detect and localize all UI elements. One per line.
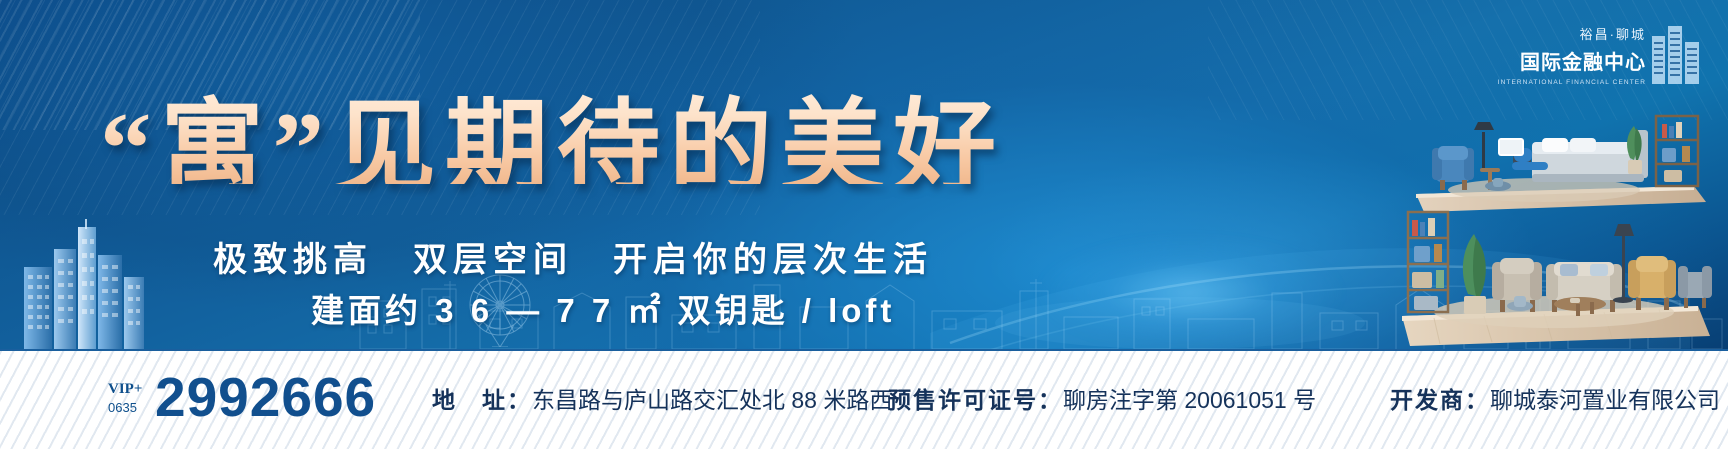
- developer-value: 聊城泰河置业有限公司: [1490, 387, 1720, 413]
- developer-label: 开发商：: [1390, 387, 1490, 413]
- address-info: 地 址：东昌路与庐山路交汇处北 88 米路西: [432, 381, 892, 415]
- logo-line-2: 国际金融中心: [1494, 46, 1646, 75]
- developer-info: 开发商：聊城泰河置业有限公司: [1390, 381, 1720, 415]
- banner-hero: “寓”见期待的美好 极致挑高 双层空间 开启你的层次生活 建面约 3 6 — 7…: [0, 0, 1728, 349]
- page-title: “寓”见期待的美好: [100, 64, 1180, 184]
- logo-line-3: INTERNATIONAL FINANCIAL CENTER: [1494, 79, 1646, 86]
- livingroom-photo: [1394, 196, 1714, 349]
- logo-line-1: 裕昌·聊城: [1494, 24, 1646, 43]
- license-info: 预售许可证号：聊房注字第 20061051 号: [888, 381, 1316, 415]
- brand-logo: 裕昌·聊城 国际金融中心 INTERNATIONAL FINANCIAL CEN…: [1492, 22, 1702, 94]
- license-value: 聊房注字第 20061051 号: [1063, 387, 1316, 413]
- subheadline-features: 极致挑高 双层空间 开启你的层次生活: [213, 232, 933, 281]
- tower-logo-icon: [1650, 22, 1702, 84]
- footer-contact-bar: VIP+ 0635 2992666 地 址：东昌路与庐山路交汇处北 88 米路西…: [0, 349, 1728, 449]
- vip-label: VIP+: [108, 381, 154, 398]
- license-label: 预售许可证号：: [888, 387, 1063, 413]
- subheadline-area-spec: 建面约 3 6 — 7 7 ㎡ 双钥匙 / loft: [311, 284, 895, 332]
- building-cluster-icon: [20, 219, 160, 349]
- phone-number[interactable]: 2992666: [155, 365, 376, 429]
- vip-label-block: VIP+ 0635: [108, 381, 154, 415]
- vip-area-code: 0635: [108, 400, 154, 415]
- address-value: 东昌路与庐山路交汇处北 88 米路西: [532, 387, 892, 413]
- address-label: 地 址：: [432, 387, 532, 413]
